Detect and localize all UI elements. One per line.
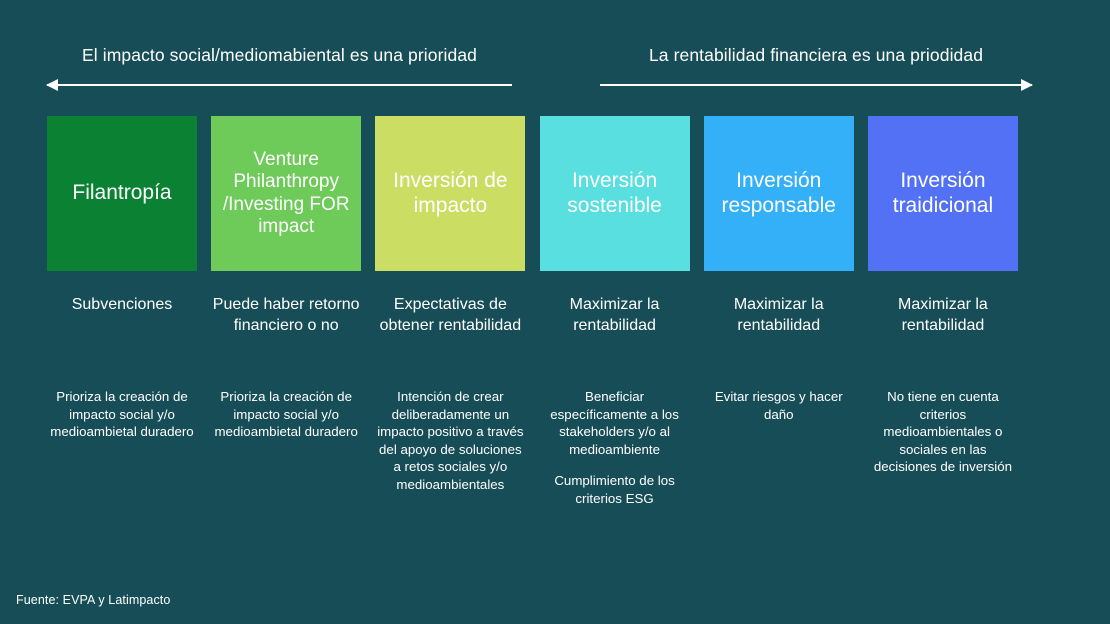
category-details: No tiene en cuenta criterios medioambien… <box>868 388 1018 476</box>
category-details: Intención de crear deliberadamente un im… <box>375 388 525 493</box>
spectrum-column: Inversión sostenible Maximizar la rentab… <box>540 116 690 507</box>
category-goal: Maximizar la rentabilidad <box>540 294 690 378</box>
category-box-venture-philanthropy[interactable]: Venture Philanthropy /Investing FOR impa… <box>211 116 361 271</box>
arrow-head <box>1021 79 1033 91</box>
category-title: Filantropía <box>72 181 171 205</box>
category-title: Inversión responsable <box>710 169 848 218</box>
detail-paragraph: Prioriza la creación de impacto social y… <box>47 388 197 441</box>
category-box-inversion-de-impacto[interactable]: Inversión de impacto <box>375 116 525 271</box>
category-box-inversion-traidicional[interactable]: Inversión traidicional <box>868 116 1018 271</box>
detail-paragraph: Intención de crear deliberadamente un im… <box>375 388 525 493</box>
financial-priority-label: La rentabilidad financiera es una priodi… <box>600 44 1032 66</box>
category-box-inversion-responsable[interactable]: Inversión responsable <box>704 116 854 271</box>
category-goal: Maximizar la rentabilidad <box>704 294 854 378</box>
spectrum-column: Venture Philanthropy /Investing FOR impa… <box>211 116 361 507</box>
category-goal: Puede haber retorno financiero o no <box>211 294 361 378</box>
category-details: Prioriza la creación de impacto social y… <box>211 388 361 441</box>
category-title: Inversión traidicional <box>874 169 1012 218</box>
arrow-head <box>46 79 58 91</box>
category-goal: Subvenciones <box>47 294 197 378</box>
arrow-shaft <box>47 84 512 86</box>
category-box-inversion-sostenible[interactable]: Inversión sostenible <box>540 116 690 271</box>
arrow-right-icon <box>600 79 1032 91</box>
detail-paragraph: Beneficiar específicamente a los stakeho… <box>540 388 690 458</box>
category-details: Evitar riesgos y hacer daño <box>704 388 854 423</box>
arrow-left-icon <box>47 79 512 91</box>
spectrum-column: Inversión responsable Maximizar la renta… <box>704 116 854 507</box>
spectrum-column: Inversión de impacto Expectativas de obt… <box>375 116 525 507</box>
category-title: Venture Philanthropy /Investing FOR impa… <box>217 149 355 237</box>
slide-canvas: El impacto social/mediomabiental es una … <box>0 0 1110 624</box>
spectrum-column: Filantropía Subvenciones Prioriza la cre… <box>47 116 197 507</box>
category-title: Inversión de impacto <box>381 169 519 218</box>
category-details: Beneficiar específicamente a los stakeho… <box>540 388 690 507</box>
detail-paragraph: Cumplimiento de los criterios ESG <box>540 472 690 507</box>
category-goal: Expectativas de obtener rentabilidad <box>375 294 525 378</box>
spectrum-column: Inversión traidicional Maximizar la rent… <box>868 116 1018 507</box>
capital-spectrum-columns: Filantropía Subvenciones Prioriza la cre… <box>47 116 1063 507</box>
direction-headers: El impacto social/mediomabiental es una … <box>0 44 1110 104</box>
category-title: Inversión sostenible <box>546 169 684 218</box>
category-details: Prioriza la creación de impacto social y… <box>47 388 197 441</box>
detail-paragraph: Prioriza la creación de impacto social y… <box>211 388 361 441</box>
arrow-shaft <box>600 84 1032 86</box>
category-goal: Maximizar la rentabilidad <box>868 294 1018 378</box>
detail-paragraph: No tiene en cuenta criterios medioambien… <box>868 388 1018 476</box>
direction-header-financial: La rentabilidad financiera es una priodi… <box>600 44 1032 91</box>
detail-paragraph: Evitar riesgos y hacer daño <box>704 388 854 423</box>
category-box-filantropia[interactable]: Filantropía <box>47 116 197 271</box>
direction-header-impact: El impacto social/mediomabiental es una … <box>47 44 512 91</box>
impact-priority-label: El impacto social/mediomabiental es una … <box>47 44 512 66</box>
source-note: Fuente: EVPA y Latimpacto <box>16 593 170 607</box>
